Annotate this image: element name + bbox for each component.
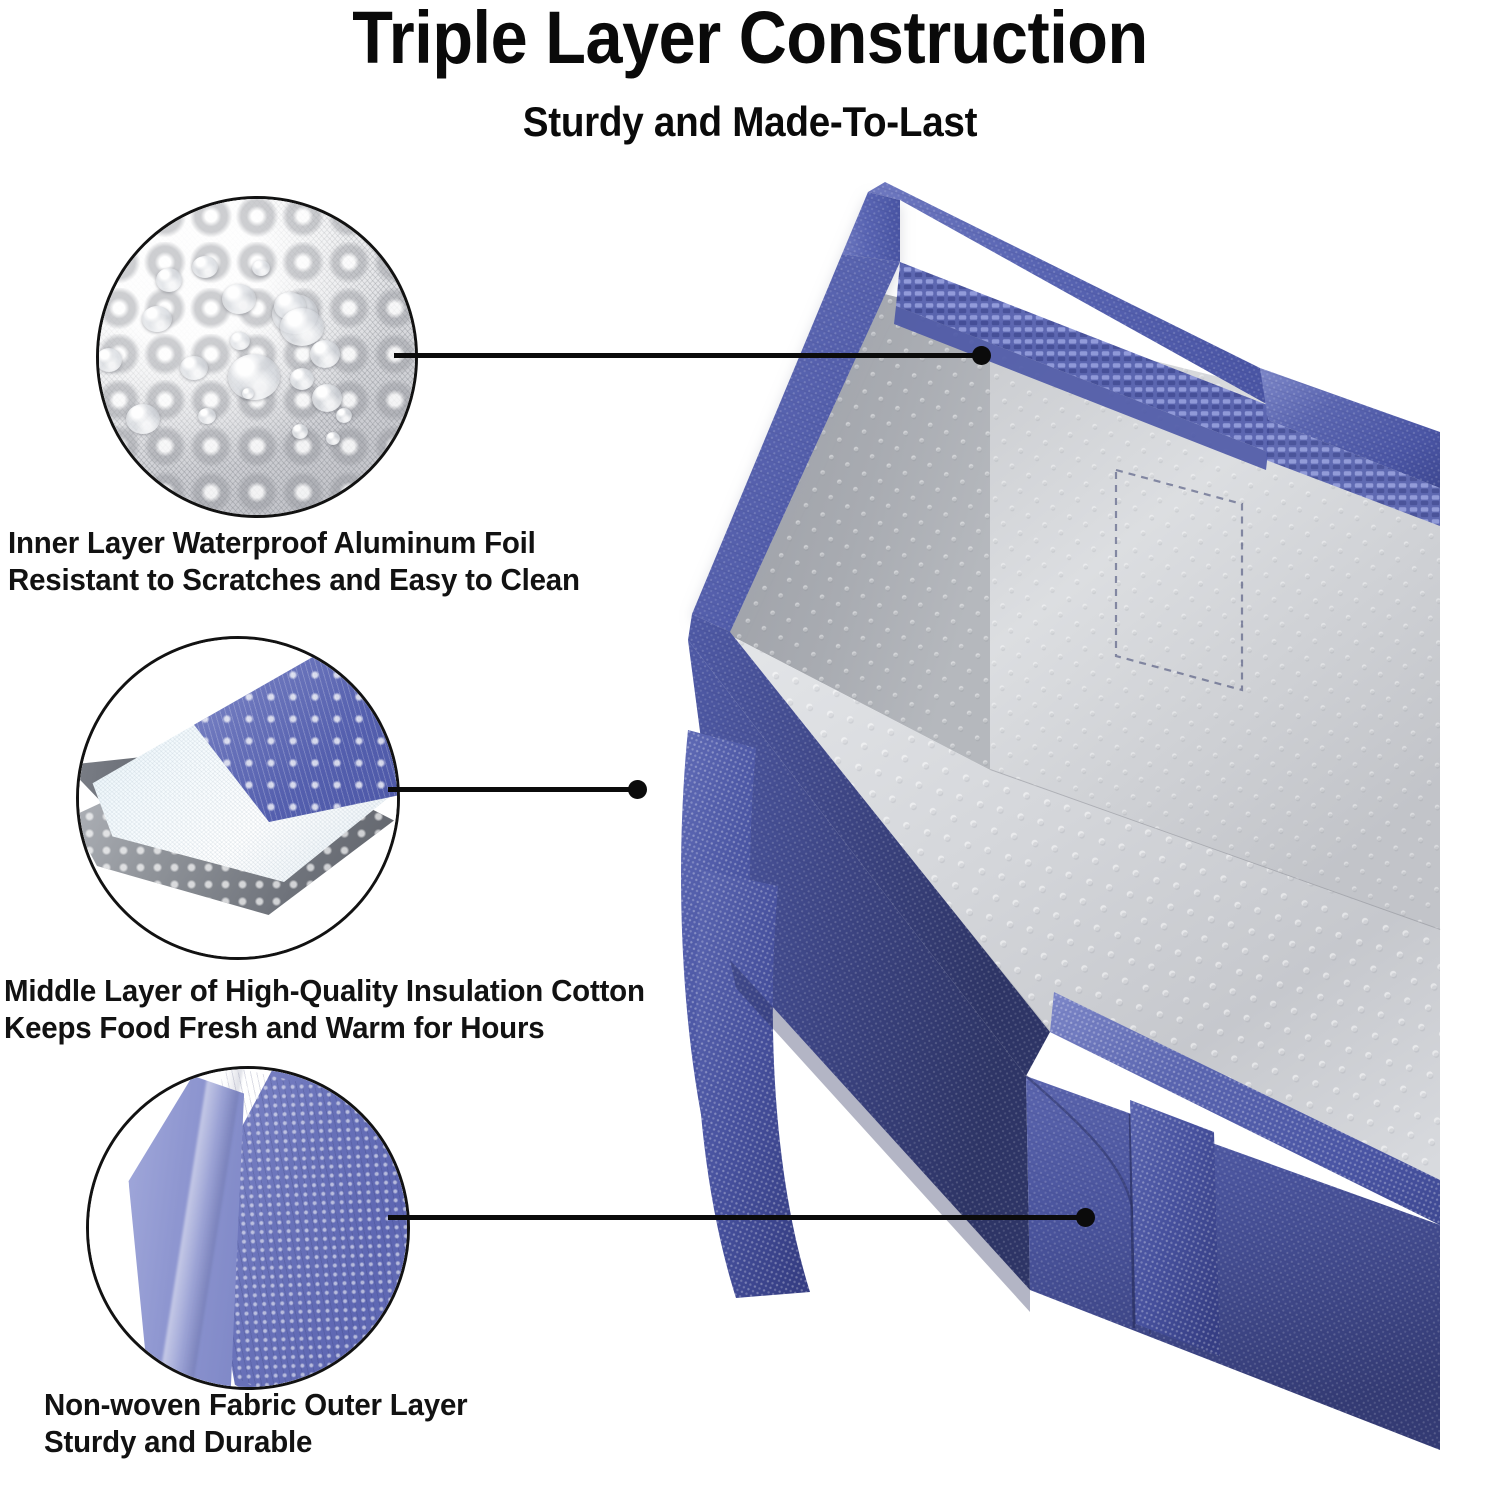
caption-middle-layer: Middle Layer of High-Quality Insulation …: [4, 972, 645, 1046]
page-subtitle: Sturdy and Made-To-Last: [60, 98, 1440, 146]
page-title: Triple Layer Construction: [75, 0, 1425, 78]
caption-inner-layer-line2: Resistant to Scratches and Easy to Clean: [8, 561, 580, 598]
caption-outer-layer: Non-woven Fabric Outer Layer Sturdy and …: [44, 1386, 467, 1460]
leader-line-outer-layer: [388, 1215, 1088, 1220]
three-fabric-layers-icon: [76, 636, 400, 960]
bag-handle-strap-right: [1130, 1100, 1220, 1356]
caption-outer-layer-line1: Non-woven Fabric Outer Layer: [44, 1386, 467, 1423]
caption-middle-layer-line2: Keeps Food Fresh and Warm for Hours: [4, 1009, 645, 1046]
leader-dot-inner-layer: [972, 346, 991, 365]
water-droplets-on-foil-icon: [96, 196, 418, 518]
callout-circle-inner-layer: [96, 196, 418, 518]
product-photo-insulated-tote-bag: [430, 170, 1500, 1490]
caption-inner-layer-line1: Inner Layer Waterproof Aluminum Foil: [8, 524, 580, 561]
caption-inner-layer: Inner Layer Waterproof Aluminum Foil Res…: [8, 524, 580, 598]
callout-circle-outer-layer: [86, 1066, 410, 1390]
caption-middle-layer-line1: Middle Layer of High-Quality Insulation …: [4, 972, 645, 1009]
leader-dot-outer-layer: [1076, 1208, 1095, 1227]
leader-dot-middle-layer: [628, 780, 647, 799]
caption-outer-layer-line2: Sturdy and Durable: [44, 1423, 467, 1460]
non-woven-fabric-corner-icon: [86, 1066, 410, 1390]
leader-line-middle-layer: [388, 787, 640, 792]
leader-line-inner-layer: [394, 353, 984, 358]
callout-circle-middle-layer: [76, 636, 400, 960]
